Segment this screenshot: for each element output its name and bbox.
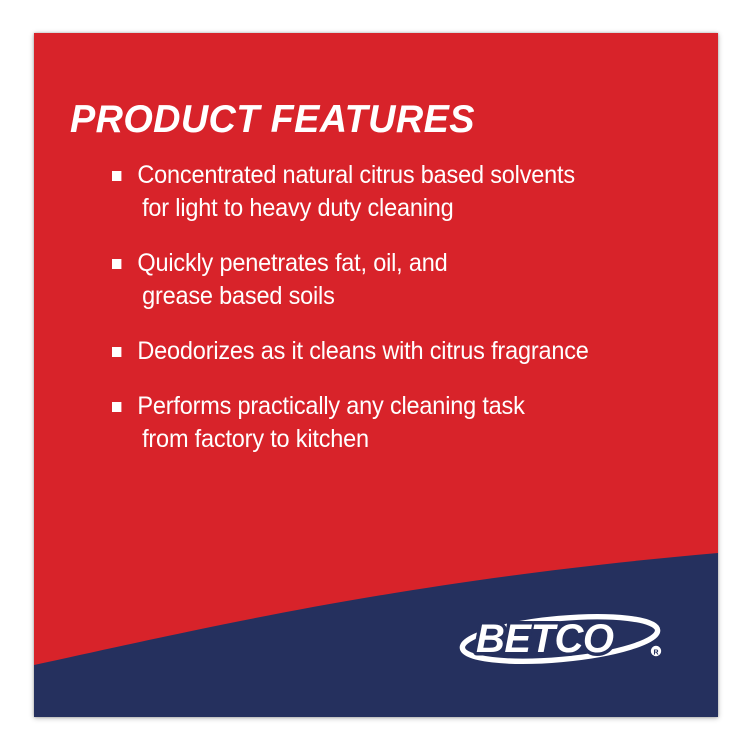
feature-text-line-1: Deodorizes as it cleans with citrus frag…	[137, 337, 588, 365]
feature-text-line-1: Performs practically any cleaning task	[137, 392, 524, 420]
feature-text-line-1: Quickly penetrates fat, oil, and	[137, 249, 447, 277]
betco-logo: BETCO BETCO R	[454, 611, 679, 669]
list-item: Performs practically any cleaning task f…	[112, 390, 657, 456]
feature-text-line-2: from factory to kitchen	[137, 423, 657, 456]
feature-text-line-2: grease based soils	[137, 280, 657, 313]
square-bullet-icon	[112, 259, 121, 269]
feature-text-line-1: Concentrated natural citrus based solven…	[137, 161, 575, 189]
product-feature-graphic: PRODUCT FEATURES Concentrated natural ci…	[0, 0, 750, 750]
feature-text-line-2: for light to heavy duty cleaning	[137, 192, 657, 225]
betco-logo-mark: BETCO BETCO R	[454, 611, 679, 669]
logo-wordmark: BETCO	[476, 617, 614, 661]
list-item: Quickly penetrates fat, oil, and grease …	[112, 247, 657, 313]
red-feature-panel: PRODUCT FEATURES Concentrated natural ci…	[34, 33, 718, 717]
registered-trademark-letter: R	[653, 649, 658, 656]
square-bullet-icon	[112, 347, 121, 357]
list-item: Deodorizes as it cleans with citrus frag…	[112, 335, 657, 368]
page-title: PRODUCT FEATURES	[70, 99, 475, 141]
list-item: Concentrated natural citrus based solven…	[112, 159, 657, 225]
square-bullet-icon	[112, 402, 121, 412]
square-bullet-icon	[112, 171, 121, 181]
feature-list: Concentrated natural citrus based solven…	[112, 159, 692, 456]
